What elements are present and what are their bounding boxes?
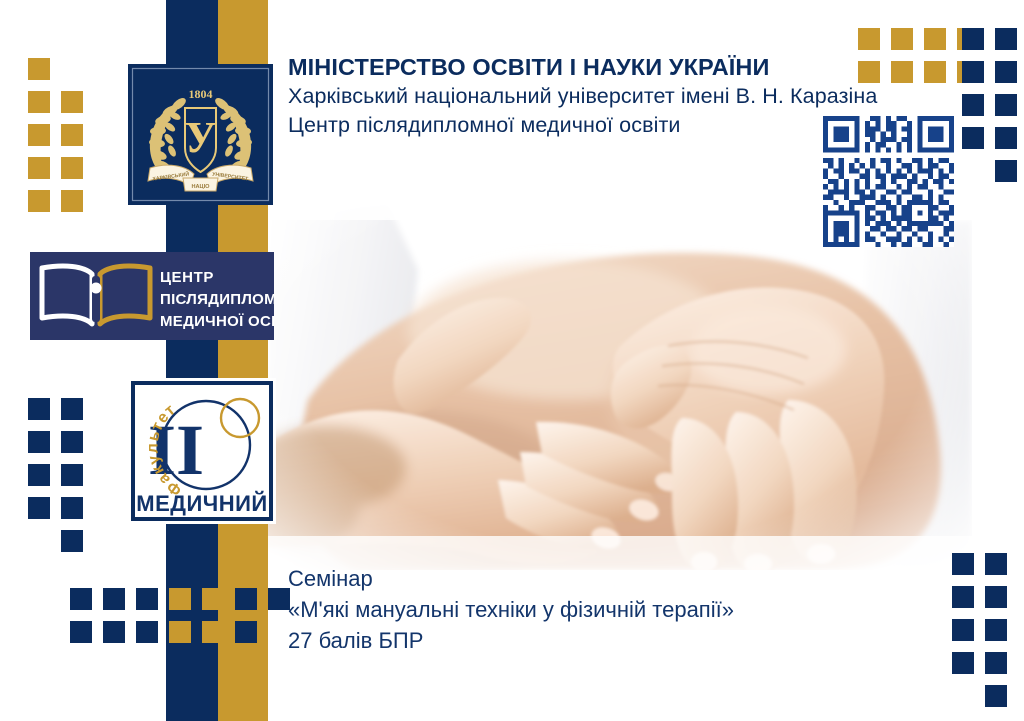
decor-dot xyxy=(103,588,125,610)
decor-dot xyxy=(995,61,1017,83)
decor-dot xyxy=(169,621,191,643)
faculty-logo: II Факультет МЕДИЧНИЙ xyxy=(128,378,276,524)
decor-dot xyxy=(28,398,50,420)
cpmo-logo: ЦЕНТР ПІСЛЯДИПЛОМНОЇ МЕДИЧНОЇ ОСВІТИ xyxy=(30,252,274,340)
decor-dot xyxy=(28,91,50,113)
decor-dot xyxy=(235,588,257,610)
decor-dot xyxy=(985,619,1007,641)
decor-dot xyxy=(28,157,50,179)
decor-dot xyxy=(995,94,1017,116)
decor-dot xyxy=(28,124,50,146)
dot-grid-top-right-gold xyxy=(858,28,979,83)
decor-dot xyxy=(985,652,1007,674)
decor-dot xyxy=(924,28,946,50)
event-type: Семінар xyxy=(288,564,948,594)
cpmo-line-2: ПІСЛЯДИПЛОМНОЇ xyxy=(160,291,274,308)
dot-grid-bottom-right xyxy=(952,553,1007,707)
decor-dot xyxy=(952,586,974,608)
decor-dot xyxy=(70,588,92,610)
decor-dot xyxy=(61,124,83,146)
university-line: Харківський національний університет іме… xyxy=(288,82,968,111)
cpmo-line-1: ЦЕНТР xyxy=(160,269,214,286)
decor-dot xyxy=(962,94,984,116)
decor-dot xyxy=(995,28,1017,50)
event-credits: 27 балів БПР xyxy=(288,625,948,656)
decor-dot xyxy=(202,588,224,610)
decor-dot xyxy=(962,127,984,149)
banner-canvas: МІНІСТЕРСТВО ОСВІТИ І НАУКИ УКРАЇНИ Харк… xyxy=(0,0,1024,721)
decor-dot xyxy=(891,28,913,50)
event-title: «М'які мануальні техніки у фізичній тера… xyxy=(288,594,948,625)
dot-grid-top-right-navy xyxy=(962,28,1017,182)
decor-dot xyxy=(952,652,974,674)
emblem-shield-letter: У xyxy=(184,113,216,162)
footer-text-block: Семінар «М'які мануальні техніки у фізич… xyxy=(288,564,948,656)
faculty-bottom-text: МЕДИЧНИЙ xyxy=(136,491,267,516)
decor-dot xyxy=(61,157,83,179)
decor-dot xyxy=(858,61,880,83)
decor-dot xyxy=(985,553,1007,575)
decor-dot xyxy=(985,685,1007,707)
decor-dot xyxy=(268,588,290,610)
decor-dot xyxy=(985,586,1007,608)
decor-dot xyxy=(891,61,913,83)
decor-dot xyxy=(28,497,50,519)
decor-dot xyxy=(995,127,1017,149)
decor-dot xyxy=(962,61,984,83)
decor-dot xyxy=(169,588,191,610)
decor-dot xyxy=(61,398,83,420)
decor-dot xyxy=(924,61,946,83)
decor-dot xyxy=(61,190,83,212)
dot-grid-top-left xyxy=(28,58,83,212)
decor-dot xyxy=(952,553,974,575)
decor-dot xyxy=(61,431,83,453)
decor-dot xyxy=(70,621,92,643)
emblem-year-text: 1804 xyxy=(189,87,213,101)
decor-dot xyxy=(61,497,83,519)
cpmo-line-3: МЕДИЧНОЇ ОСВІТИ xyxy=(160,313,274,330)
decor-dot xyxy=(962,28,984,50)
decor-dot xyxy=(235,621,257,643)
decor-dot xyxy=(995,160,1017,182)
qr-code[interactable] xyxy=(822,116,955,247)
decor-dot xyxy=(61,530,83,552)
decor-dot xyxy=(28,431,50,453)
decor-dot xyxy=(61,91,83,113)
dot-grid-bottom-left xyxy=(70,588,290,643)
decor-dot xyxy=(28,190,50,212)
decor-dot xyxy=(136,621,158,643)
decor-dot xyxy=(28,464,50,486)
decor-dot xyxy=(103,621,125,643)
decor-dot xyxy=(952,619,974,641)
decor-dot xyxy=(61,464,83,486)
emblem-ribbon-center: НАЦІО xyxy=(191,184,210,190)
decor-dot xyxy=(136,588,158,610)
decor-dot xyxy=(28,58,50,80)
university-emblem: 1804 xyxy=(128,64,273,205)
dot-grid-left-navy xyxy=(28,398,83,552)
decor-dot xyxy=(202,621,224,643)
decor-dot xyxy=(858,28,880,50)
